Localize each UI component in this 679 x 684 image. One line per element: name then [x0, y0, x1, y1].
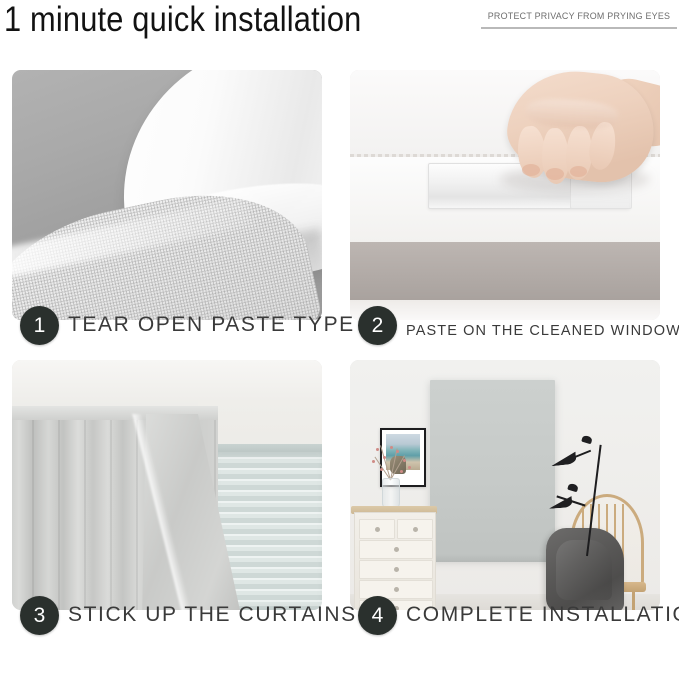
step-number-badge-4: 4 [358, 596, 397, 635]
step-3-caption-text: STICK UP THE CURTAINS [68, 600, 357, 630]
drawer-knob [375, 527, 380, 532]
dresser-drawer [359, 540, 433, 559]
tagline-text: PROTECT PRIVACY FROM PRYING EYES [487, 10, 671, 23]
step-card-1: 1 TEAR OPEN PASTE TYPE [12, 70, 322, 364]
step-card-4: 4 COMPLETE INSTALLATION [350, 360, 660, 654]
drawer-knob [394, 567, 399, 572]
shade-bottom-rail [430, 554, 555, 562]
step-2-caption: 2 PASTE ON THE CLEANED WINDOW FRAME [350, 324, 660, 364]
step-number-badge-2: 2 [358, 306, 397, 345]
page-header: 1 minute quick installation PROTECT PRIV… [0, 0, 679, 62]
step-4-caption: 4 COMPLETE INSTALLATION [350, 614, 660, 654]
dresser-drawer [359, 519, 395, 539]
step-3-photo [12, 360, 322, 610]
drawer-knob [413, 527, 418, 532]
drawer-knob [394, 547, 399, 552]
fingernail-1 [522, 164, 540, 176]
step-1-caption: 1 TEAR OPEN PASTE TYPE [12, 324, 322, 364]
fingernail-3 [570, 166, 587, 177]
step-2-photo [350, 70, 660, 320]
step-card-2: 2 PASTE ON THE CLEANED WINDOW FRAME [350, 70, 660, 364]
step-4-photo [350, 360, 660, 610]
dresser [354, 512, 436, 610]
fingernail-2 [546, 168, 564, 180]
step-4-caption-text: COMPLETE INSTALLATION [406, 600, 679, 630]
step-card-3: 3 STICK UP THE CURTAINS [12, 360, 322, 654]
step-number-badge-3: 3 [20, 596, 59, 635]
step-2-caption-text: PASTE ON THE CLEANED WINDOW FRAME [406, 316, 679, 346]
dresser-drawer [397, 519, 433, 539]
wall-shadow-band [350, 242, 660, 300]
artwork-seascape [386, 434, 420, 470]
throw-blanket-fold [556, 540, 612, 600]
dresser-drawer [359, 560, 433, 579]
step-3-caption: 3 STICK UP THE CURTAINS [12, 614, 322, 654]
step-1-caption-text: TEAR OPEN PASTE TYPE [68, 310, 355, 340]
installed-window-shade [430, 380, 555, 560]
tagline-divider [481, 27, 677, 29]
tagline-block: PROTECT PRIVACY FROM PRYING EYES [481, 10, 677, 29]
page-title: 1 minute quick installation [4, 0, 361, 42]
step-1-photo [12, 70, 322, 320]
installation-steps-grid: 1 TEAR OPEN PASTE TYPE 2 [0, 62, 679, 662]
drawer-knob [394, 587, 399, 592]
step-number-badge-1: 1 [20, 306, 59, 345]
